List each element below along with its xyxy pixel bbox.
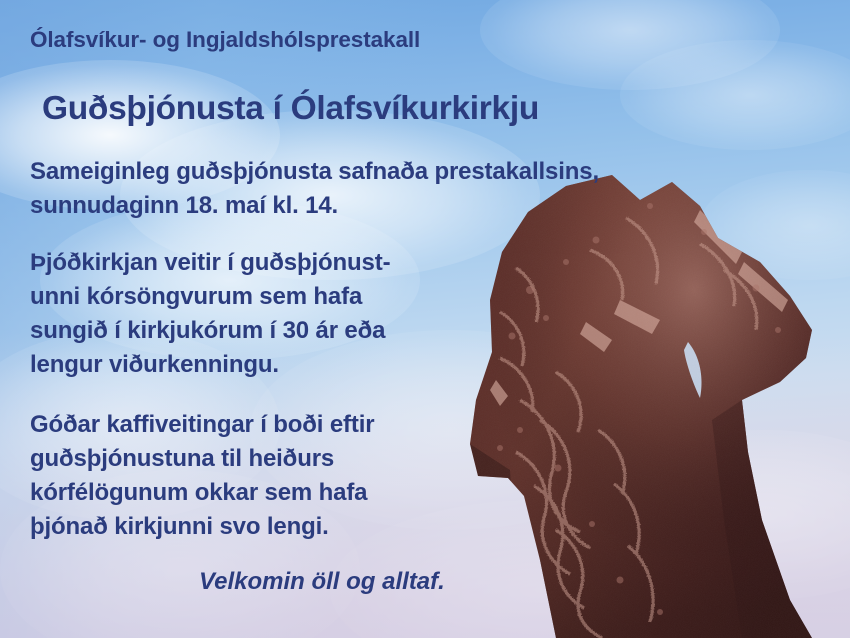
service-details-paragraph: Sameiginleg guðsþjónusta safnaða prestak…	[30, 155, 599, 223]
page-title: Guðsþjónusta í Ólafsvíkurkirkju	[42, 89, 539, 129]
poster-canvas: Ólafsvíkur- og Ingjaldshólsprestakall Gu…	[0, 0, 850, 638]
welcome-closing-line: Velkomin öll og alltaf.	[199, 568, 445, 596]
recognition-paragraph: Þjóðkirkjan veitir í guðsþjónust- unni k…	[30, 246, 390, 382]
prestakall-kicker: Ólafsvíkur- og Ingjaldshólsprestakall	[30, 27, 420, 53]
refreshments-paragraph: Góðar kaffiveitingar í boði eftir guðsþj…	[30, 408, 374, 544]
